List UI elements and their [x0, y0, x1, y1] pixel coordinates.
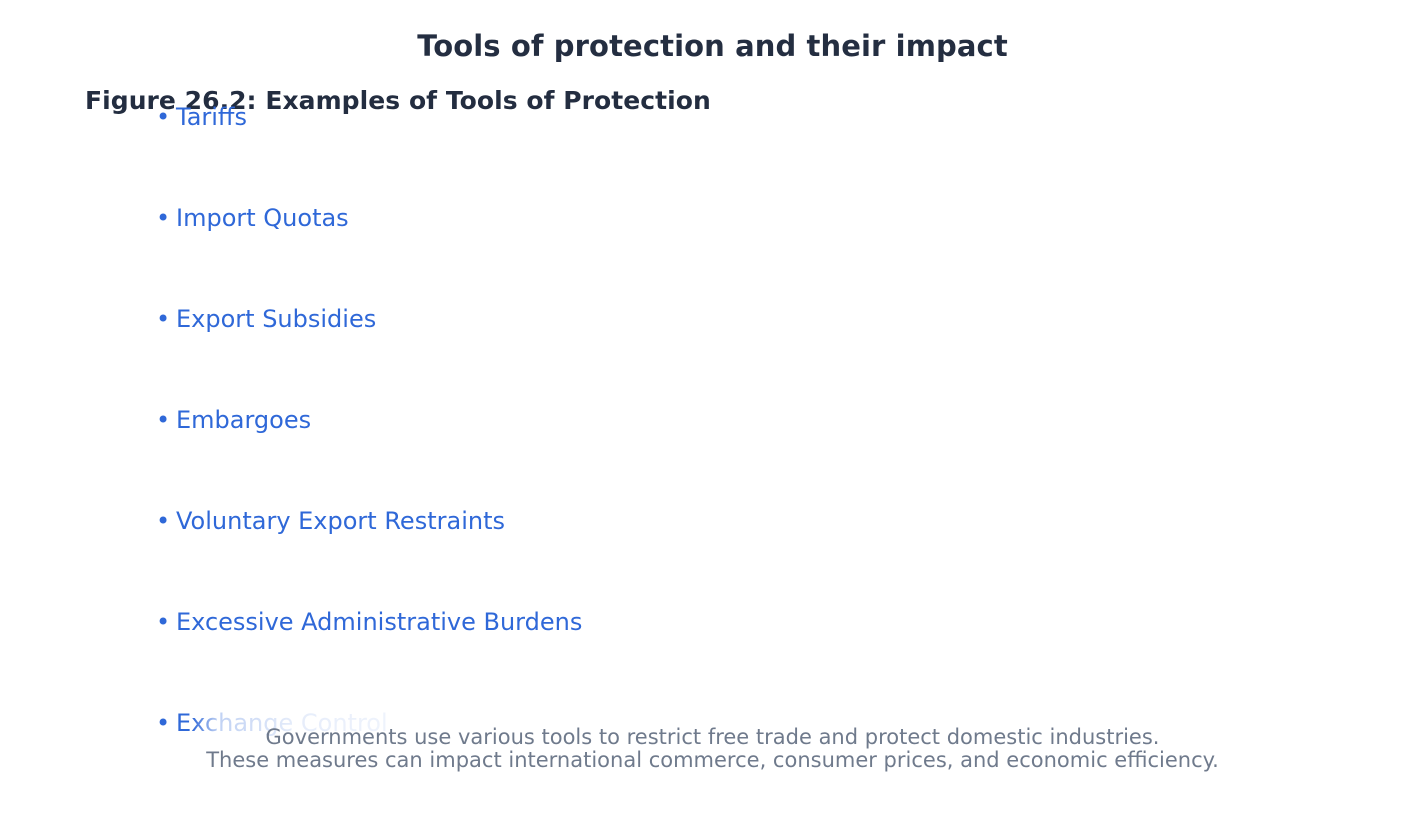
list-item: • Excessive Administrative Burdens [156, 605, 582, 706]
caption-line-2: These measures can impact international … [0, 749, 1425, 772]
slide-canvas: Tools of protection and their impact Fig… [0, 0, 1425, 825]
list-item: • Embargoes [156, 403, 582, 504]
list-item: • Tariffs [156, 100, 582, 201]
bullet-icon: • [156, 302, 176, 336]
list-item-label: Voluntary Export Restraints [176, 504, 505, 538]
bullet-icon: • [156, 201, 176, 235]
caption-overlay: Governments use various tools to restric… [0, 726, 1425, 772]
list-item: • Export Subsidies [156, 302, 582, 403]
list-item-label: Excessive Administrative Burdens [176, 605, 582, 639]
list-item: • Voluntary Export Restraints [156, 504, 582, 605]
bullet-icon: • [156, 403, 176, 437]
page-title: Tools of protection and their impact [0, 28, 1425, 64]
tools-of-protection-list: • Tariffs • Import Quotas • Export Subsi… [156, 100, 582, 807]
list-item-label: Import Quotas [176, 201, 349, 235]
list-item-label: Tariffs [176, 100, 247, 134]
bullet-icon: • [156, 100, 176, 134]
bullet-icon: • [156, 605, 176, 639]
list-item: • Import Quotas [156, 201, 582, 302]
caption-line-1: Governments use various tools to restric… [0, 726, 1425, 749]
bullet-icon: • [156, 504, 176, 538]
list-item-label: Export Subsidies [176, 302, 376, 336]
list-item-label: Embargoes [176, 403, 311, 437]
